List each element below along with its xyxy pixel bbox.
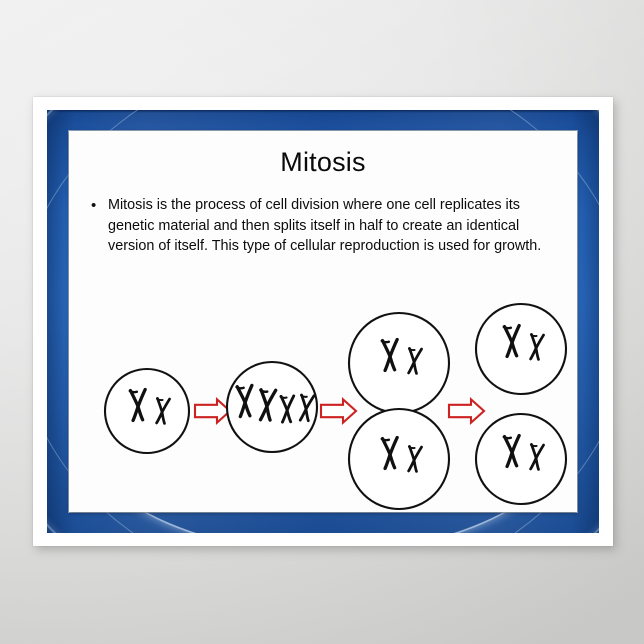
- poster-background: Mitosis • Mitosis is the process of cell…: [0, 0, 644, 644]
- poster-paper: Mitosis • Mitosis is the process of cell…: [33, 97, 613, 546]
- stage-replicated-cell: [227, 362, 317, 452]
- bullet-marker-icon: •: [91, 195, 108, 216]
- stage-dividing-cell: [349, 313, 449, 509]
- bullet-list-item: • Mitosis is the process of cell divisio…: [91, 195, 559, 257]
- mitosis-diagram-svg: [69, 281, 577, 512]
- page-title: Mitosis: [69, 147, 577, 178]
- stage-daughter-cells: [476, 304, 566, 504]
- slide-blue-frame: Mitosis • Mitosis is the process of cell…: [47, 110, 599, 533]
- stage-parent-cell: [105, 369, 189, 453]
- arrow-2: [321, 399, 356, 422]
- arrow-1: [195, 399, 230, 422]
- bullet-body-text: Mitosis is the process of cell division …: [108, 195, 559, 257]
- mitosis-diagram: [69, 281, 577, 512]
- arrow-3: [449, 399, 484, 422]
- presentation-slide: Mitosis • Mitosis is the process of cell…: [69, 131, 577, 512]
